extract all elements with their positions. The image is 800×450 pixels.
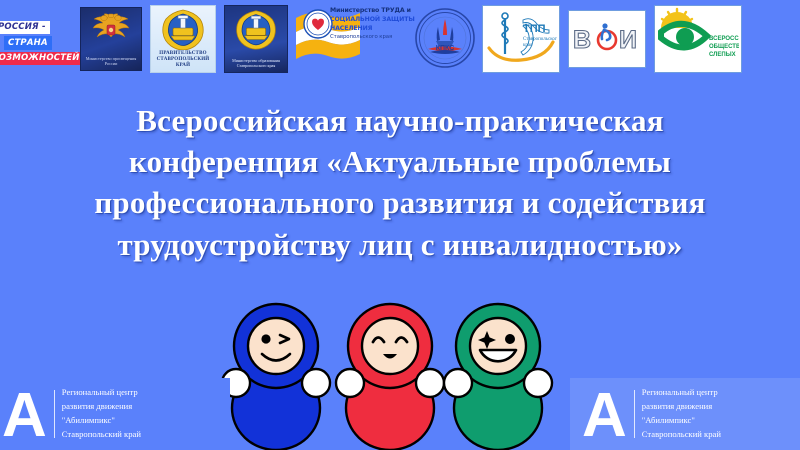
badge-right-line-4: Ставропольский край [642,428,721,442]
logo-kpks: КПКС [414,3,476,73]
abilympics-badge-left-text: Региональный центр развития движения "Аб… [62,386,141,442]
logo-kpks-abbr: КПКС [436,45,455,52]
logo-mintrud-sk-caption: Министерство ТРУДА и СОЦИАЛЬНОЙ ЗАЩИТЫ Н… [330,7,416,42]
logo-ministerstvo-prosvescheniya: Министерство просвещения России [80,7,142,71]
logo-rsv-line2: СТРАНА [4,36,52,50]
logo-voi-letter-v: В [573,26,591,54]
logo-vos-line1: ВСЕРОССИЙСКОЕ [709,34,739,42]
logo-pravitelstvo-sk-line3: КРАЙ [152,63,213,69]
circular-emblem-icon: КПКС [414,3,476,73]
logo-mintrud-sk-line3: Ставропольского края [330,34,416,42]
logo-minobrazovaniya-sk: Министерство образования Ставропольского… [224,5,288,73]
logo-voi-letter-i: И [619,26,637,54]
abilympics-mascot-green [438,298,558,450]
green-eye-with-sun-icon: ВСЕРОССИЙСКОЕ ОБЩЕСТВО СЛЕПЫХ [655,6,739,70]
logo-mintrud-sk-line1: Министерство ТРУДА и [330,7,416,16]
logo-pravitelstvo-sk-line1: ПРАВИТЕЛЬСТВО [152,51,213,57]
wheelchair-in-letter-o-icon: В И [571,22,643,56]
partner-logo-strip: РОССИЯ - СТРАНА ВОЗМОЖНОСТЕЙ Министерств… [0,0,800,82]
logo-ministerstvo-prosvescheniya-caption: Министерство просвещения России [82,56,140,67]
badge-divider-left [54,390,55,438]
logo-tpp-line2: края [523,43,533,48]
badge-right-line-3: "Абилимпикс" [642,414,721,428]
badge-divider-right [634,390,635,438]
logo-vos-line3: СЛЕПЫХ [709,52,736,58]
logo-mintrud-sk: Министерство ТРУДА и СОЦИАЛЬНОЙ ЗАЩИТЫ Н… [292,2,412,74]
abilympics-mascot-red [330,298,450,450]
caduceus-and-map-icon: ТПП Ставропольского края [483,6,557,70]
logo-vos: ВСЕРОССИЙСКОЕ ОБЩЕСТВО СЛЕПЫХ [654,5,742,73]
badge-left-line-3: "Абилимпикс" [62,414,141,428]
conference-title-line-4: трудоустройству лиц с инвалидностью» [12,224,788,265]
logo-vos-line2: ОБЩЕСТВО [709,44,739,50]
badge-left-line-1: Региональный центр [62,386,141,400]
logo-voi: В И [568,10,646,68]
conference-title-line-3: профессионального развития и содействия [12,182,788,223]
badge-right-line-1: Региональный центр [642,386,721,400]
conference-title: Всероссийская научно-практическая конфер… [12,100,788,265]
logo-mintrud-sk-line2: СОЦИАЛЬНОЙ ЗАЩИТЫ НАСЕЛЕНИЯ [330,16,416,34]
logo-tpp-line1: Ставропольского [523,37,557,42]
logo-rsv-line3: ВОЗМОЖНОСТЕЙ [0,52,84,66]
conference-title-line-1: Всероссийская научно-практическая [12,100,788,141]
abilympics-badge-left: A Региональный центр развития движения "… [0,378,230,450]
abilympics-badge-right: A Региональный центр развития движения "… [570,378,800,450]
abilympics-mascot-blue [216,298,336,450]
logo-minobrazovaniya-sk-caption: Министерство образования Ставропольского… [226,58,286,68]
logo-rossiya-strana-vozmozhnostey: РОССИЯ - СТРАНА ВОЗМОЖНОСТЕЙ [0,4,72,82]
badge-right-line-2: развития движения [642,400,721,414]
logo-minobrazovaniya-sk-line2: Ставропольского края [226,63,286,68]
slide-canvas: РОССИЯ - СТРАНА ВОЗМОЖНОСТЕЙ Министерств… [0,0,800,450]
logo-pravitelstvo-sk: ПРАВИТЕЛЬСТВО СТАВРОПОЛЬСКИЙ КРАЙ [150,5,216,73]
conference-title-line-2: конференция «Актуальные проблемы [12,141,788,182]
coat-of-arms-stavropol-icon [159,8,207,50]
abilympics-logo-letter-left: A [2,388,45,444]
double-headed-eagle-icon [88,12,134,46]
logo-tpp-abbr: ТПП [523,23,546,35]
abilympics-logo-letter-right: A [582,388,625,444]
coat-of-arms-stavropol-icon [233,8,279,50]
abilympics-badge-right-text: Региональный центр развития движения "Аб… [642,386,721,442]
logo-tpp-sk: ТПП Ставропольского края [482,5,560,73]
badge-left-line-2: развития движения [62,400,141,414]
logo-pravitelstvo-sk-caption: ПРАВИТЕЛЬСТВО СТАВРОПОЛЬСКИЙ КРАЙ [152,51,213,69]
badge-left-line-4: Ставропольский край [62,428,141,442]
logo-pravitelstvo-sk-line2: СТАВРОПОЛЬСКИЙ [152,57,213,63]
logo-rsv-line1: РОССИЯ - [0,21,50,35]
